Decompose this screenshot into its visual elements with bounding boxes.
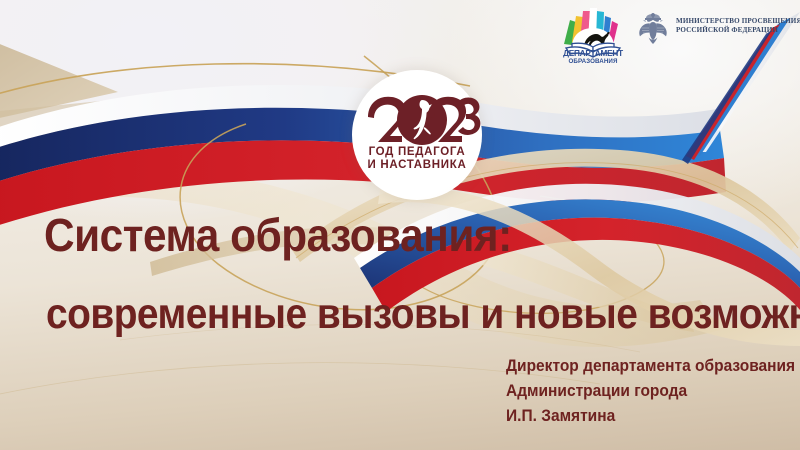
presentation-title-slide: ГОД ПЕДАГОГА И НАСТАВНИКА — [0, 0, 800, 450]
department-of-education-logo: ДЕПАРТАМЕНТ ОБРАЗОВАНИЯ — [556, 4, 630, 68]
logo-group: ДЕПАРТАМЕНТ ОБРАЗОВАНИЯ — [556, 4, 800, 70]
department-logo-word-2: ОБРАЗОВАНИЯ — [556, 58, 630, 65]
byline-line-3: И.П. Замятина — [506, 404, 779, 429]
page-title-line-1: Система образования: — [44, 208, 512, 262]
page-title-line-2: современные вызовы и новые возможности — [46, 290, 800, 339]
emblem-line-1: ГОД ПЕДАГОГА — [352, 146, 482, 158]
byline-line-1: Директор департамента образования — [506, 354, 779, 379]
department-logo-word-1: ДЕПАРТАМЕНТ — [556, 49, 630, 58]
presenter-byline: Директор департамента образования Админи… — [506, 354, 796, 429]
emblem-2023-graphic — [352, 70, 482, 200]
ministry-of-education-logo: МИНИСТЕРСТВО ПРОСВЕЩЕНИЯ РОССИЙСКОЙ ФЕДЕ… — [634, 10, 800, 52]
ministry-line-1: МИНИСТЕРСТВО ПРОСВЕЩЕНИЯ — [676, 17, 800, 26]
byline-line-2: Администрации города — [506, 379, 779, 404]
ministry-logo-text: МИНИСТЕРСТВО ПРОСВЕЩЕНИЯ РОССИЙСКОЙ ФЕДЕ… — [676, 17, 800, 36]
emblem-line-2: И НАСТАВНИКА — [352, 159, 482, 171]
ministry-line-2: РОССИЙСКОЙ ФЕДЕРАЦИИ — [676, 26, 800, 35]
double-headed-eagle-icon — [634, 10, 672, 48]
year-of-teacher-emblem: ГОД ПЕДАГОГА И НАСТАВНИКА — [352, 70, 482, 200]
